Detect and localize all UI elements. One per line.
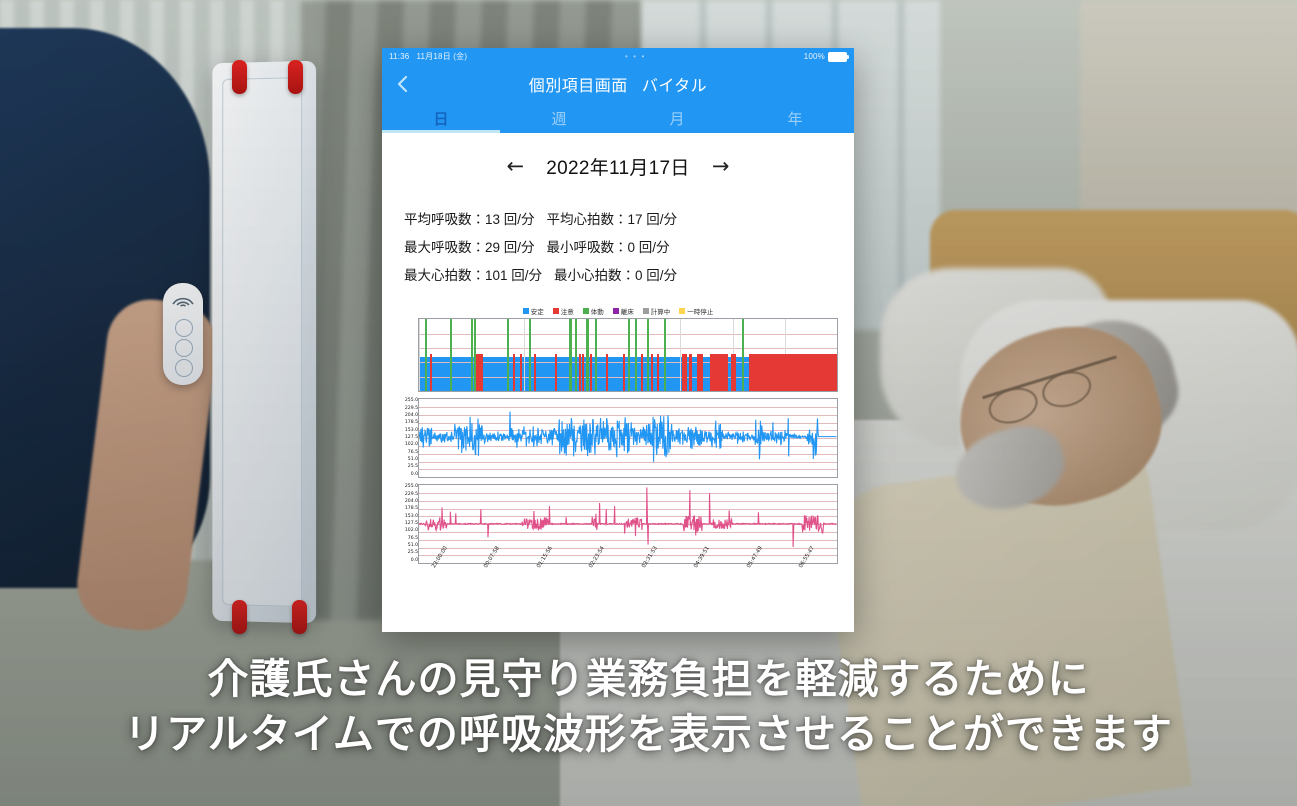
y-tick-label-7: 76.5	[393, 451, 418, 456]
status-bar-31	[710, 354, 728, 391]
status-bar-date: 11月18日 (金)	[416, 51, 467, 62]
period-tab-bar: 日 週 月 年	[382, 103, 854, 133]
page-title: 個別項目画面バイタル	[382, 72, 854, 96]
promo-caption: 介護氏さんの見守り業務負担を軽減するために リアルタイムでの呼吸波形を表示させる…	[0, 652, 1297, 762]
tab-day-label: 日	[433, 108, 448, 129]
legend-label: 注意	[561, 306, 574, 316]
status-bar-13	[575, 319, 577, 391]
status-bar-right: 100%	[804, 52, 847, 62]
status-bar-33	[742, 319, 744, 391]
max-heartrate-label: 最大心拍数：101 回/分	[404, 268, 542, 283]
charts-area: 安定注意体動離床計算中一時停止 255.0229.5204.0178.5153.…	[392, 306, 844, 628]
status-bar-26	[657, 354, 659, 391]
y-tick-label-3: 178.5	[393, 421, 418, 426]
y-tick-label-2: 204.0	[393, 500, 418, 505]
status-bar-20	[623, 354, 625, 391]
gridline-vertical	[419, 319, 420, 391]
status-chart-block	[392, 318, 844, 392]
status-legend: 安定注意体動離床計算中一時停止	[392, 306, 844, 316]
status-timeline-chart[interactable]	[418, 318, 838, 392]
min-respiration-label: 最小呼吸数：0 回/分	[547, 240, 670, 255]
status-bar-34	[749, 354, 837, 391]
legend-label: 安定	[531, 306, 544, 316]
max-respiration-label: 最大呼吸数：29 回/分	[404, 240, 535, 255]
legend-swatch-icon	[583, 308, 589, 314]
min-heartrate-label: 最小心拍数：0 回/分	[554, 268, 677, 283]
status-bar-dots: • • •	[467, 52, 804, 61]
status-bar-12	[569, 319, 571, 391]
tab-week[interactable]: 週	[500, 103, 618, 133]
battery-percent-label: 100%	[804, 52, 825, 61]
status-bar-11	[555, 354, 557, 391]
legend-item-5: 一時停止	[679, 306, 713, 316]
next-day-button[interactable]: →	[708, 156, 734, 177]
status-bar-23	[641, 354, 643, 391]
legend-swatch-icon	[613, 308, 619, 314]
status-bar-3	[471, 319, 473, 391]
y-tick-label-5: 127.5	[393, 436, 418, 441]
respiration-chart[interactable]: 255.0229.5204.0178.5153.0127.5102.076.55…	[418, 398, 838, 478]
status-bar-2	[450, 319, 452, 391]
status-bar-22	[635, 319, 637, 391]
y-tick-label-8: 51.0	[393, 544, 418, 549]
caption-line-1: 介護氏さんの見守り業務負担を軽減するために	[0, 652, 1297, 707]
status-bar-21	[628, 319, 630, 391]
back-button[interactable]	[392, 74, 412, 94]
y-tick-label-6: 102.0	[393, 529, 418, 534]
y-tick-label-10: 0.0	[393, 559, 418, 564]
status-bar-8	[520, 354, 522, 391]
time-axis: 23:00:0000:07:5801:15:5602:23:5403:31:53…	[418, 566, 838, 612]
tab-day[interactable]: 日	[382, 103, 500, 133]
legend-swatch-icon	[523, 308, 529, 314]
gridline-vertical	[680, 319, 681, 391]
status-bar-0	[425, 319, 427, 391]
status-bar-left: 11:36 11月18日 (金)	[389, 51, 467, 62]
promo-image: 11:36 11月18日 (金) • • • 100% 個別項目画面バイタル 日	[0, 0, 1297, 806]
tab-month-label: 月	[669, 108, 684, 129]
waveform-path	[419, 485, 837, 563]
y-tick-label-10: 0.0	[393, 473, 418, 478]
y-tick-label-0: 255.0	[393, 399, 418, 404]
status-bar-27	[664, 319, 666, 391]
chevron-left-icon	[396, 75, 409, 93]
status-bar-14	[579, 354, 581, 391]
page-title-main: 個別項目画面	[529, 78, 628, 95]
status-bar-9	[529, 319, 531, 391]
status-bar-30	[697, 354, 704, 391]
gridline-vertical	[524, 319, 525, 391]
tab-month[interactable]: 月	[618, 103, 736, 133]
date-navigator: ← 2022年11月17日 →	[382, 153, 854, 180]
legend-label: 一時停止	[687, 306, 713, 316]
y-tick-label-4: 153.0	[393, 515, 418, 520]
y-tick-label-5: 127.5	[393, 522, 418, 527]
heartrate-y-axis: 255.0229.5204.0178.5153.0127.5102.076.55…	[393, 485, 418, 563]
heartrate-chart-block: 255.0229.5204.0178.5153.0127.5102.076.55…	[392, 484, 844, 612]
legend-item-1: 注意	[553, 306, 574, 316]
y-tick-label-2: 204.0	[393, 414, 418, 419]
y-tick-label-1: 229.5	[393, 493, 418, 498]
tablet-device: 11:36 11月18日 (金) • • • 100% 個別項目画面バイタル 日	[382, 48, 854, 632]
prev-day-button[interactable]: ←	[502, 156, 528, 177]
status-bar-6	[507, 319, 509, 391]
status-bar-24	[647, 319, 649, 391]
status-bar-time: 11:36	[389, 52, 409, 61]
y-tick-label-7: 76.5	[393, 537, 418, 542]
status-bar-10	[534, 354, 536, 391]
status-bar-29	[689, 354, 692, 391]
status-bar: 11:36 11月18日 (金) • • • 100%	[382, 48, 854, 65]
legend-item-2: 体動	[583, 306, 604, 316]
battery-icon	[828, 52, 847, 62]
y-tick-label-4: 153.0	[393, 429, 418, 434]
status-bar-25	[651, 354, 653, 391]
y-tick-label-6: 102.0	[393, 443, 418, 448]
selected-date-label: 2022年11月17日	[546, 153, 689, 180]
legend-swatch-icon	[679, 308, 685, 314]
legend-swatch-icon	[553, 308, 559, 314]
tab-year[interactable]: 年	[736, 103, 854, 133]
status-bar-32	[731, 354, 736, 391]
y-tick-label-3: 178.5	[393, 507, 418, 512]
legend-swatch-icon	[643, 308, 649, 314]
status-bar-17	[590, 354, 592, 391]
summary-row-respiration: 最大呼吸数：29 回/分最小呼吸数：0 回/分	[404, 234, 854, 262]
avg-respiration-label: 平均呼吸数：13 回/分	[404, 212, 535, 227]
status-bar-28	[682, 354, 686, 391]
legend-item-4: 計算中	[643, 306, 671, 316]
legend-item-3: 離床	[613, 306, 634, 316]
y-tick-label-9: 25.5	[393, 551, 418, 556]
tab-week-label: 週	[551, 108, 566, 129]
summary-row-average: 平均呼吸数：13 回/分平均心拍数：17 回/分	[404, 206, 854, 234]
respiration-y-axis: 255.0229.5204.0178.5153.0127.5102.076.55…	[393, 399, 418, 477]
tab-year-label: 年	[787, 108, 802, 129]
legend-label: 離床	[621, 306, 634, 316]
caption-line-2: リアルタイムでの呼吸波形を表示させることができます	[0, 707, 1297, 762]
respiration-chart-block: 255.0229.5204.0178.5153.0127.5102.076.55…	[392, 398, 844, 478]
legend-label: 計算中	[651, 306, 671, 316]
page-title-sub: バイタル	[642, 78, 707, 95]
nav-bar: 個別項目画面バイタル	[382, 65, 854, 103]
y-tick-label-8: 51.0	[393, 458, 418, 463]
status-bar-15	[582, 354, 584, 391]
summary-row-heartrate: 最大心拍数：101 回/分最小心拍数：0 回/分	[404, 262, 854, 290]
status-bar-5	[476, 354, 483, 391]
y-tick-label-9: 25.5	[393, 465, 418, 470]
legend-label: 体動	[591, 306, 604, 316]
status-bar-1	[430, 354, 433, 391]
app-screen: ← 2022年11月17日 → 平均呼吸数：13 回/分平均心拍数：17 回/分…	[382, 133, 854, 632]
heartrate-chart[interactable]: 255.0229.5204.0178.5153.0127.5102.076.55…	[418, 484, 838, 564]
avg-heartrate-label: 平均心拍数：17 回/分	[547, 212, 678, 227]
legend-item-0: 安定	[523, 306, 544, 316]
y-tick-label-1: 229.5	[393, 407, 418, 412]
y-tick-label-0: 255.0	[393, 485, 418, 490]
status-bar-18	[595, 319, 597, 391]
status-bar-7	[513, 354, 515, 391]
vital-summary: 平均呼吸数：13 回/分平均心拍数：17 回/分 最大呼吸数：29 回/分最小呼…	[404, 206, 854, 290]
waveform-path	[419, 399, 837, 477]
status-bar-16	[586, 319, 589, 391]
status-bar-19	[606, 354, 608, 391]
